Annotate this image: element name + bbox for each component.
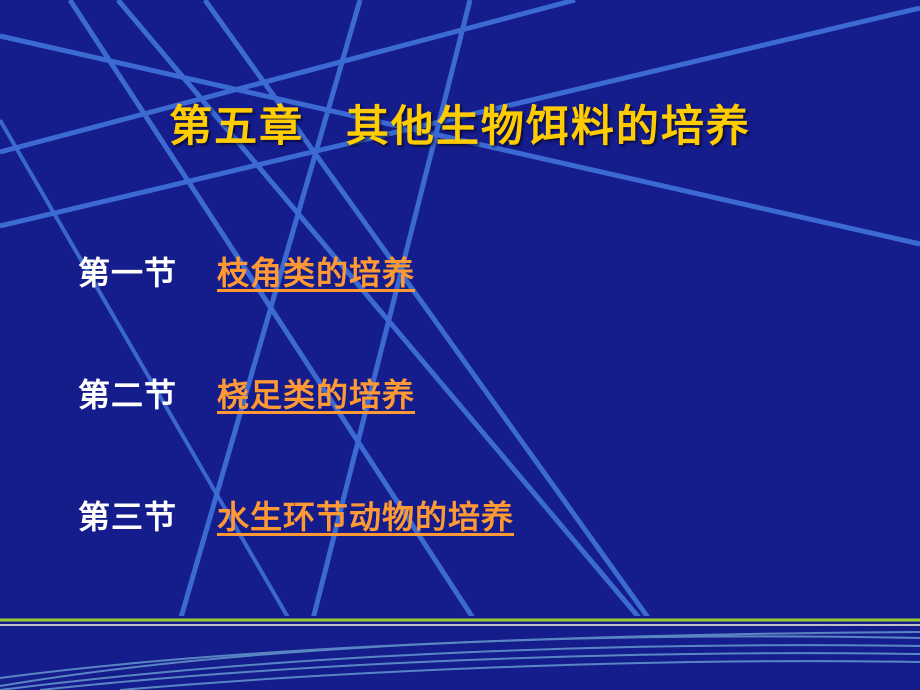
section-link-2[interactable]: 桡足类的培养: [217, 370, 415, 416]
footer-decoration: [0, 616, 920, 690]
section-number-2: 第二节: [78, 370, 177, 416]
page-title: 第五章 其他生物饵料的培养: [0, 92, 920, 154]
presentation-slide: 第五章 其他生物饵料的培养 第一节 枝角类的培养 第二节 桡足类的培养 第三节 …: [0, 0, 920, 690]
list-item: 第三节 水生环节动物的培养: [78, 492, 878, 614]
slide-content: 第五章 其他生物饵料的培养 第一节 枝角类的培养 第二节 桡足类的培养 第三节 …: [0, 0, 920, 690]
section-link-3[interactable]: 水生环节动物的培养: [217, 492, 514, 538]
section-link-1[interactable]: 枝角类的培养: [217, 248, 415, 294]
table-of-contents: 第一节 枝角类的培养 第二节 桡足类的培养 第三节 水生环节动物的培养: [78, 248, 878, 614]
section-number-1: 第一节: [78, 248, 177, 294]
section-number-3: 第三节: [78, 492, 177, 538]
list-item: 第二节 桡足类的培养: [78, 370, 878, 492]
list-item: 第一节 枝角类的培养: [78, 248, 878, 370]
